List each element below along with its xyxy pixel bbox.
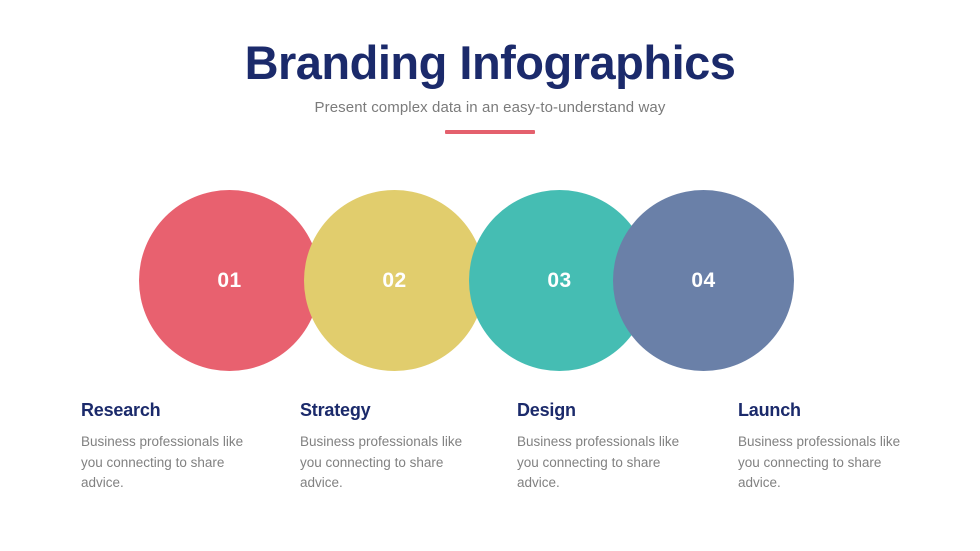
step-description-1: Research Business professionals like you… bbox=[81, 400, 281, 494]
step-body: Business professionals like you connecti… bbox=[517, 432, 682, 495]
page-title: Branding Infographics bbox=[0, 38, 980, 87]
step-title: Strategy bbox=[300, 400, 500, 422]
step-title: Design bbox=[517, 400, 717, 422]
step-title: Research bbox=[81, 400, 281, 422]
step-description-4: Launch Business professionals like you c… bbox=[738, 400, 938, 494]
step-body: Business professionals like you connecti… bbox=[81, 432, 246, 495]
step-descriptions-group: Research Business professionals like you… bbox=[0, 400, 980, 520]
step-number-label: 03 bbox=[547, 269, 571, 293]
step-circle-1[interactable]: 01 bbox=[139, 190, 320, 371]
step-description-2: Strategy Business professionals like you… bbox=[300, 400, 500, 494]
infographic-slide: Branding Infographics Present complex da… bbox=[0, 0, 980, 551]
slide-header: Branding Infographics Present complex da… bbox=[0, 38, 980, 134]
step-number-label: 02 bbox=[382, 269, 406, 293]
step-description-3: Design Business professionals like you c… bbox=[517, 400, 717, 494]
step-number-label: 01 bbox=[217, 269, 241, 293]
page-subtitle: Present complex data in an easy-to-under… bbox=[0, 99, 980, 116]
step-circles-group: 01 02 03 04 bbox=[0, 190, 980, 372]
step-number-label: 04 bbox=[691, 269, 715, 293]
step-circle-2[interactable]: 02 bbox=[304, 190, 485, 371]
title-divider bbox=[445, 130, 535, 134]
step-circle-4[interactable]: 04 bbox=[613, 190, 794, 371]
step-body: Business professionals like you connecti… bbox=[300, 432, 465, 495]
step-body: Business professionals like you connecti… bbox=[738, 432, 903, 495]
step-title: Launch bbox=[738, 400, 938, 422]
